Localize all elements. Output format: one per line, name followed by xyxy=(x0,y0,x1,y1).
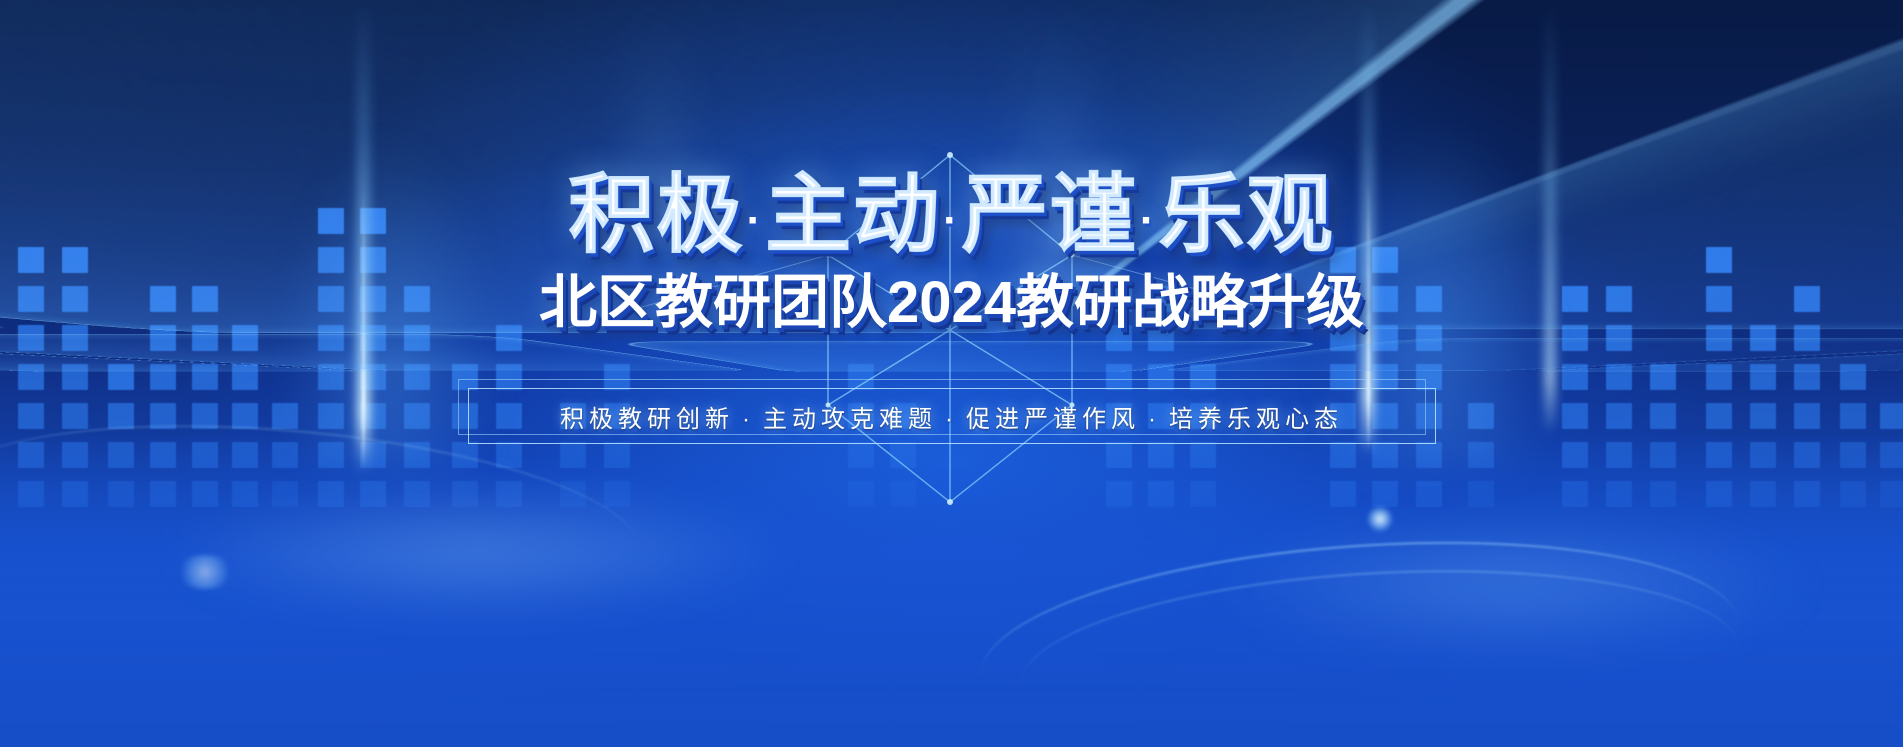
tagline-item-1: 积极教研创新 xyxy=(560,406,734,433)
headline-word-2: 主动 xyxy=(765,167,941,263)
tagline-text: 积极教研创新·主动攻克难题·促进严谨作风·培养乐观心态 xyxy=(560,399,1343,434)
tagline-item-4: 培养乐观心态 xyxy=(1169,406,1343,433)
headline-separator-1: · xyxy=(745,196,766,245)
main-headline: 积极·主动·严谨·乐观 xyxy=(569,172,1335,258)
headline-separator-3: · xyxy=(1138,196,1159,245)
headline-word-4: 乐观 xyxy=(1158,167,1334,263)
promotional-banner: 积极·主动·严谨·乐观 北区教研团队2024教研战略升级 积极教研创新·主动攻克… xyxy=(0,0,1903,747)
headline-separator-2: · xyxy=(941,196,962,245)
headline-word-3: 严谨 xyxy=(962,167,1138,263)
tagline-item-2: 主动攻克难题 xyxy=(763,406,937,433)
headline-word-1: 积极 xyxy=(569,167,745,263)
sub-headline: 北区教研团队2024教研战略升级 xyxy=(539,274,1364,332)
tagline-separator-2: · xyxy=(937,406,966,433)
banner-content: 积极·主动·严谨·乐观 北区教研团队2024教研战略升级 积极教研创新·主动攻克… xyxy=(0,0,1903,747)
tagline-separator-1: · xyxy=(734,406,763,433)
tagline-box: 积极教研创新·主动攻克难题·促进严谨作风·培养乐观心态 xyxy=(468,388,1436,444)
tagline-item-3: 促进严谨作风 xyxy=(966,406,1140,433)
tagline-container: 积极教研创新·主动攻克难题·促进严谨作风·培养乐观心态 xyxy=(468,388,1436,444)
tagline-separator-3: · xyxy=(1140,406,1169,433)
